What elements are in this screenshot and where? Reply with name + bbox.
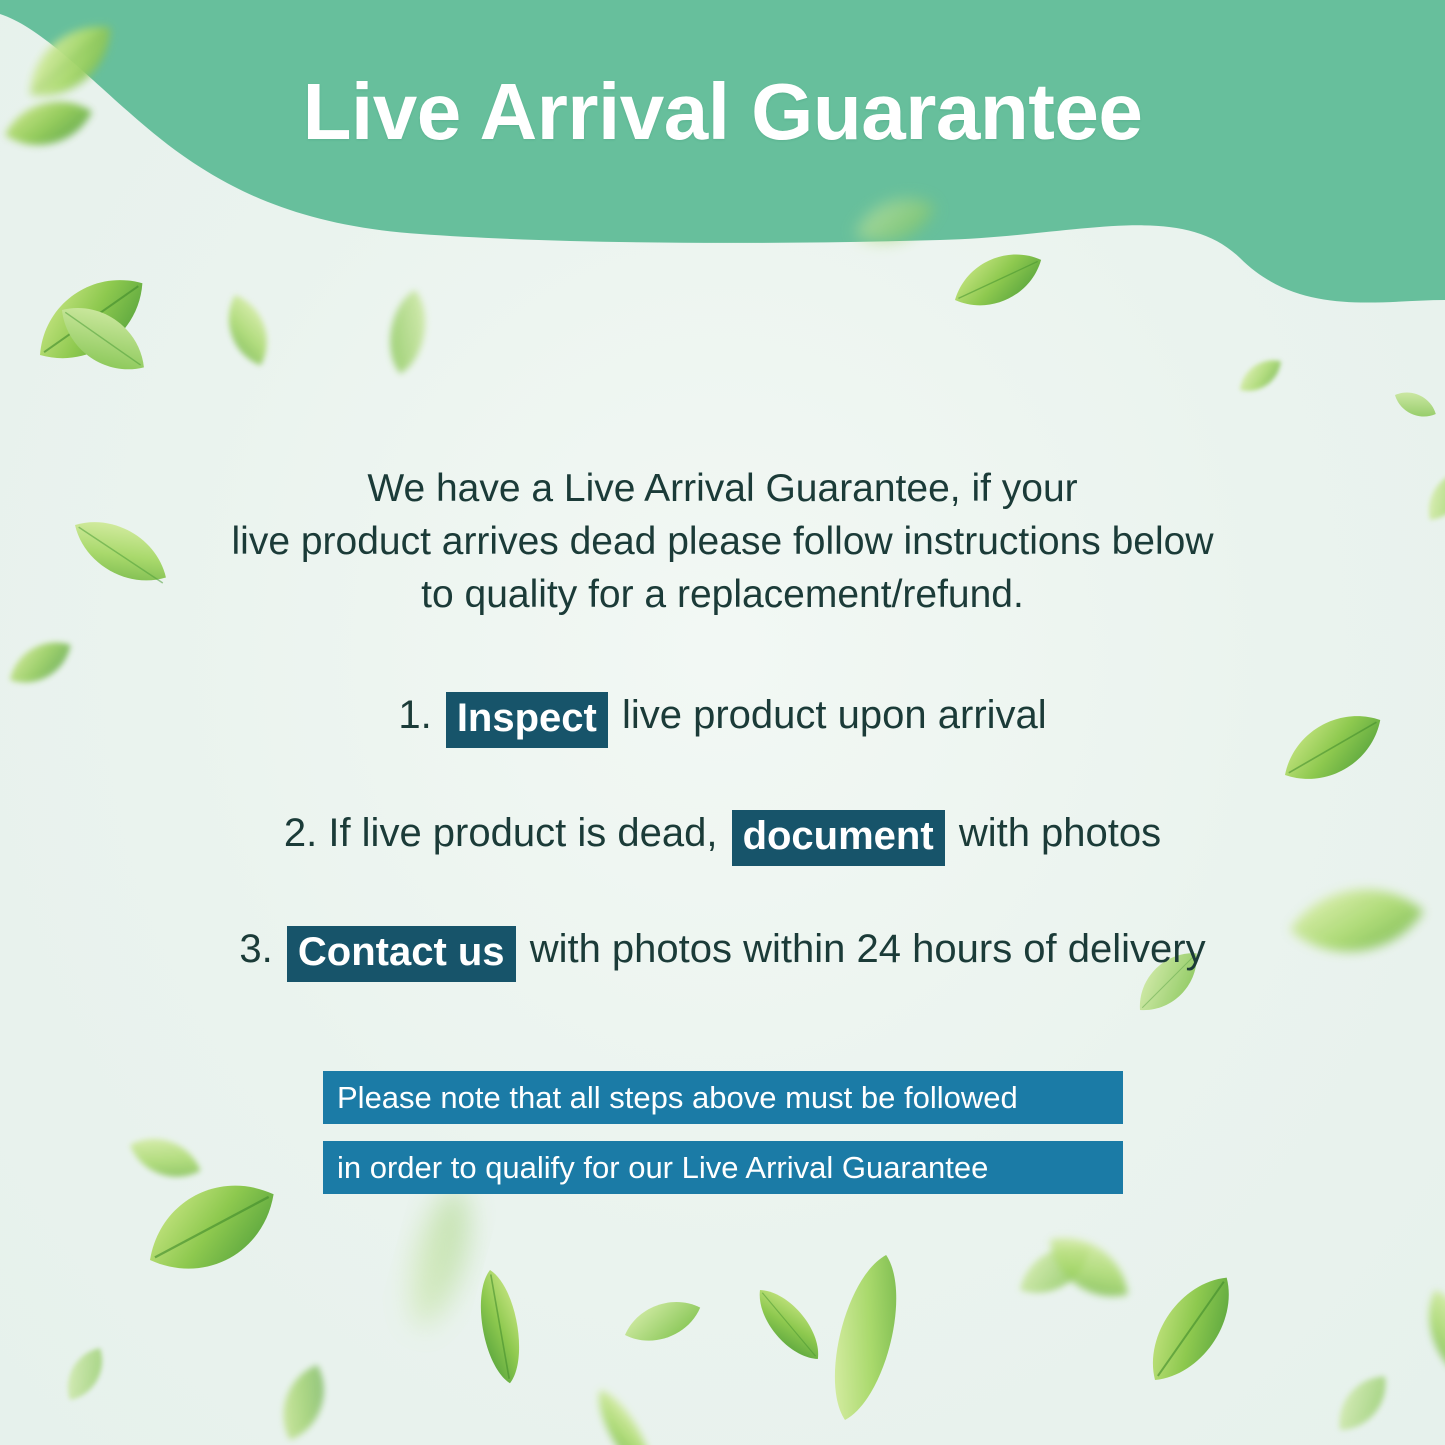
page-title: Live Arrival Guarantee [0,72,1445,152]
intro-line-3: to quality for a replacement/refund. [0,568,1445,621]
footer-note-line-1: Please note that all steps above must be… [323,1071,1123,1124]
step-2-highlight: document [732,810,945,866]
step-2: 2. If live product is dead, document wit… [0,805,1445,863]
step-3-number: 3. [239,927,272,971]
intro-line-1: We have a Live Arrival Guarantee, if you… [0,462,1445,515]
step-1: 1. Inspect live product upon arrival [0,687,1445,745]
intro-paragraph: We have a Live Arrival Guarantee, if you… [0,462,1445,621]
step-3-highlight: Contact us [287,926,516,982]
footer-note: Please note that all steps above must be… [323,1071,1123,1194]
intro-line-2: live product arrives dead please follow … [0,515,1445,568]
step-2-text-after: with photos [959,811,1161,855]
step-1-number: 1. [398,693,431,737]
header-green-shape [0,0,1445,420]
step-2-text-before: If live product is dead, [328,811,717,855]
footer-note-line-2: in order to qualify for our Live Arrival… [323,1141,1123,1194]
footer-note-gap [323,1124,1123,1141]
step-3: 3. Contact us with photos within 24 hour… [0,921,1445,979]
step-2-number: 2. [284,811,317,855]
step-3-text-after: with photos within 24 hours of delivery [530,927,1206,971]
step-1-highlight: Inspect [446,692,608,748]
live-arrival-guarantee-poster: Live Arrival Guarantee We have a Live Ar… [0,0,1445,1445]
step-1-text-after: live product upon arrival [622,693,1047,737]
